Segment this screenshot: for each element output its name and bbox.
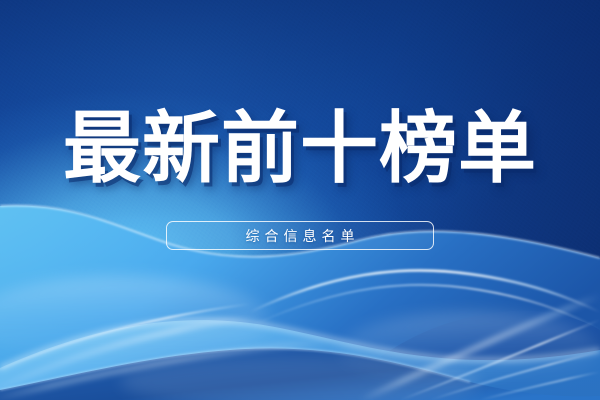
page-title: 最新前十榜单: [0, 106, 600, 190]
promo-banner: 最新前十榜单 综合信息名单: [0, 0, 600, 400]
subtitle-label: 综合信息名单: [241, 226, 360, 246]
banner-content: 最新前十榜单 综合信息名单: [0, 0, 600, 400]
subtitle-badge: 综合信息名单: [166, 221, 434, 250]
